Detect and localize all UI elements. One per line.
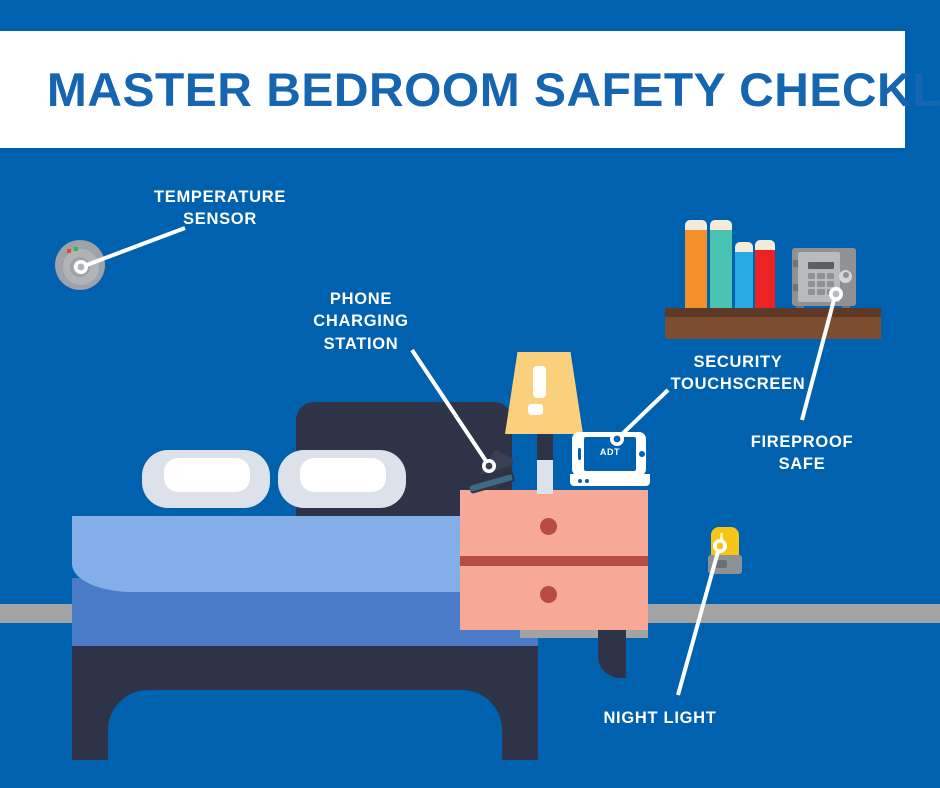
safe-keypad xyxy=(808,273,834,295)
safe-key xyxy=(817,273,824,279)
callout-label-security-touchscreen: SECURITY TOUCHSCREEN xyxy=(650,351,826,396)
night-light-prong xyxy=(715,560,727,568)
lamp-highlight-dot xyxy=(528,404,543,415)
book-teal xyxy=(710,226,732,308)
safe-key xyxy=(808,289,815,295)
lamp-highlight-bar xyxy=(533,366,546,398)
tablet-base-dot-1 xyxy=(578,479,582,483)
callout-label-fireproof-safe: FIREPROOF SAFE xyxy=(730,431,874,476)
tablet-base-dot-2 xyxy=(585,479,589,483)
book-pages-top xyxy=(735,242,753,252)
lamp-stem xyxy=(537,458,553,494)
sensor-inner-ring xyxy=(70,257,90,277)
nightstand-shadow xyxy=(520,630,648,638)
tablet-screen: ADT xyxy=(584,437,636,471)
sensor-led-red xyxy=(67,249,71,253)
pillow-right-inner xyxy=(300,458,386,492)
tablet-icon: ADT xyxy=(570,432,654,490)
safe-door xyxy=(798,252,840,302)
wall-shelf xyxy=(665,222,885,330)
night-light-highlight xyxy=(720,533,723,541)
infographic-canvas: ADT xyxy=(0,0,940,788)
safe-key xyxy=(827,281,834,287)
book-orange xyxy=(685,226,707,308)
safe-key xyxy=(827,273,834,279)
smoke-sensor-icon xyxy=(55,240,107,292)
book-pages-top xyxy=(755,240,775,250)
safe-icon xyxy=(792,248,856,310)
tablet-brand-label: ADT xyxy=(584,447,636,457)
safe-key xyxy=(817,289,824,295)
phone-dock-icon xyxy=(468,450,524,494)
book-red xyxy=(755,246,775,308)
shelf-front-face xyxy=(665,317,881,339)
safe-display xyxy=(808,262,834,269)
lamp-neck xyxy=(537,434,553,460)
pillow-left xyxy=(142,450,270,508)
book-pages-top xyxy=(710,220,732,230)
nightstand-knob-bottom xyxy=(540,586,557,603)
pillow-right xyxy=(278,450,406,508)
night-light-plug-base xyxy=(708,555,742,574)
callout-label-phone-charging-station: PHONE CHARGING STATION xyxy=(288,288,434,355)
book-pages-top xyxy=(685,220,707,230)
book-light-blue xyxy=(735,248,753,308)
nightstand-drawer-divider xyxy=(460,556,648,566)
safe-key xyxy=(817,281,824,287)
safe-key xyxy=(808,281,815,287)
nightstand xyxy=(460,490,652,670)
pillow-left-inner xyxy=(164,458,250,492)
leader-line-security-touchscreen xyxy=(618,390,668,438)
callout-label-temperature-sensor: TEMPERATURE SENSOR xyxy=(140,186,300,231)
nightstand-leg xyxy=(598,630,626,678)
night-light-icon xyxy=(706,527,746,575)
safe-key xyxy=(808,273,815,279)
sensor-led-green xyxy=(74,247,78,251)
safe-body xyxy=(792,248,856,306)
safe-dial-center xyxy=(843,272,849,278)
tablet-speaker xyxy=(578,448,581,460)
safe-key xyxy=(827,289,834,295)
nightstand-body xyxy=(460,490,648,630)
tablet-body: ADT xyxy=(572,432,646,476)
title-banner: MASTER BEDROOM SAFETY CHECKLIST xyxy=(0,31,905,148)
tablet-home-button xyxy=(639,451,645,457)
nightstand-knob-top xyxy=(540,518,557,535)
bed-frame-arch xyxy=(108,690,502,766)
safe-dial xyxy=(839,270,852,283)
callout-label-night-light: NIGHT LIGHT xyxy=(590,707,730,729)
page-title: MASTER BEDROOM SAFETY CHECKLIST xyxy=(0,66,940,113)
